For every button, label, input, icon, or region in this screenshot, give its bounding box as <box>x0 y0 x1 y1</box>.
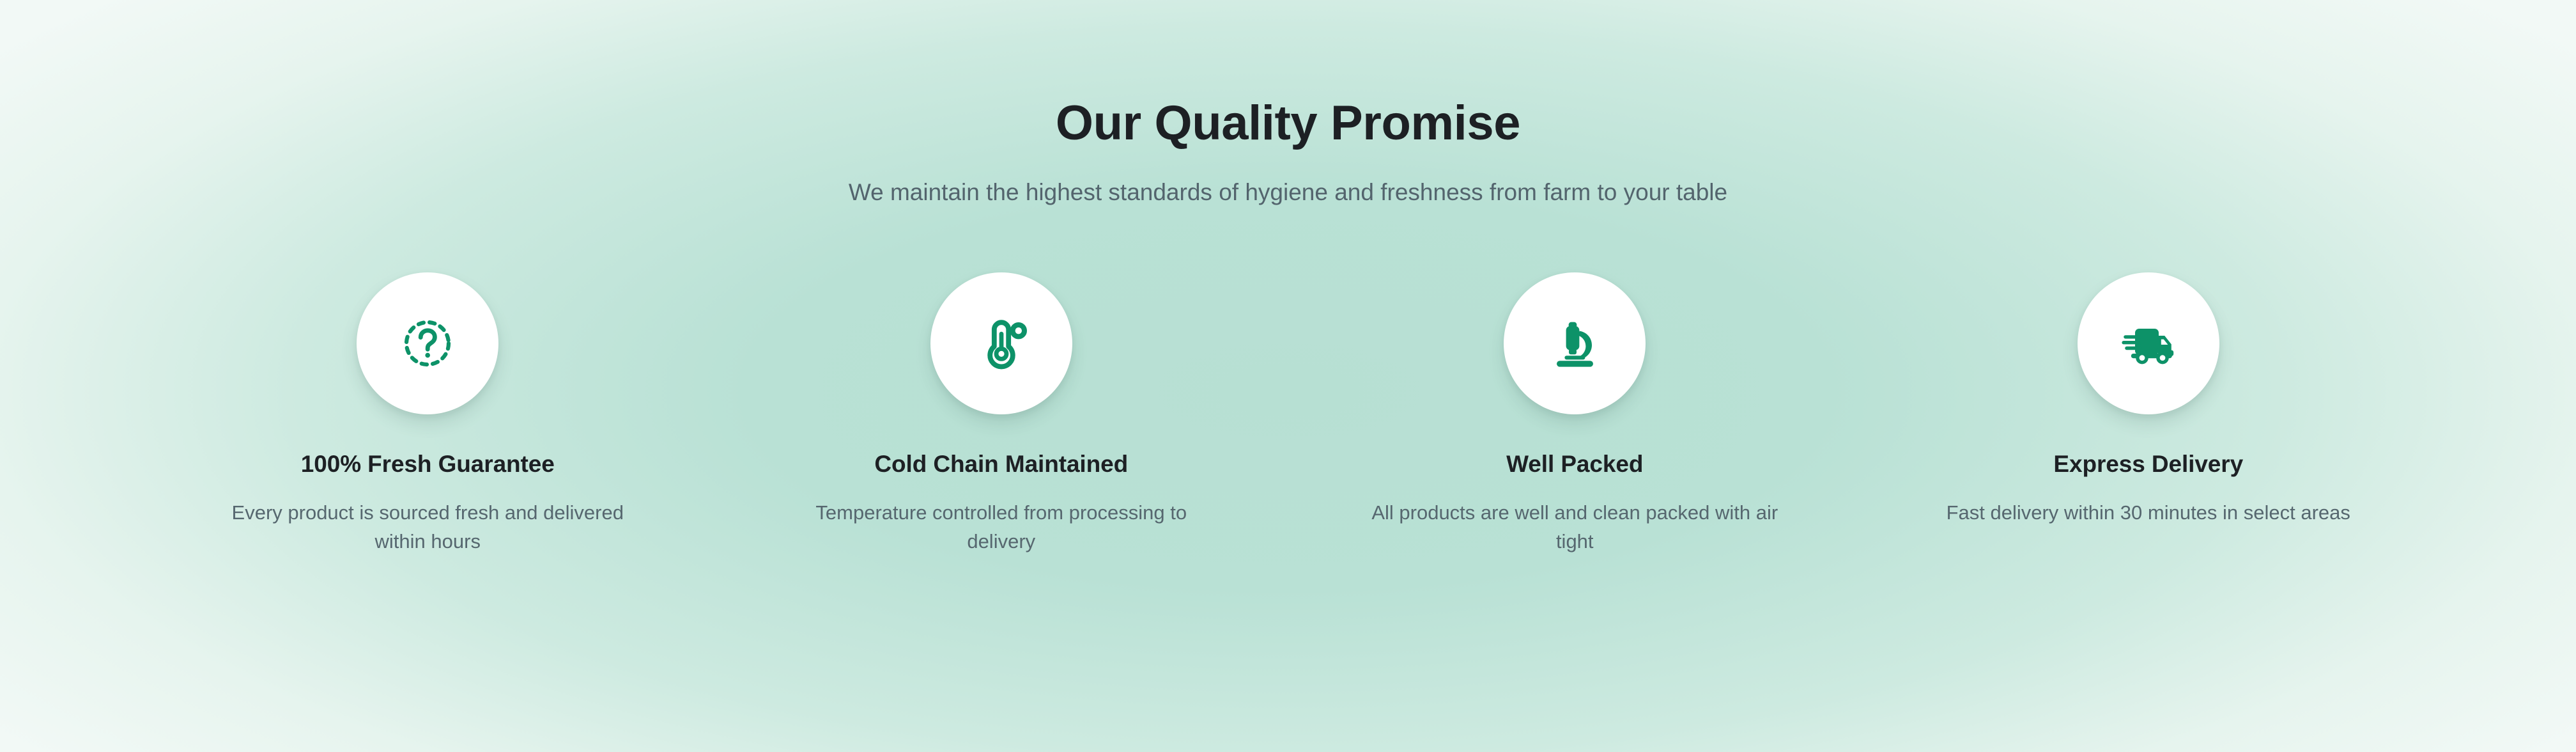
quality-promise-section: Our Quality Promise We maintain the high… <box>0 0 2576 752</box>
icon-badge <box>2078 272 2219 414</box>
feature-description: Fast delivery within 30 minutes in selec… <box>1947 499 2350 528</box>
feature-card-fresh-guarantee: 100% Fresh Guarantee Every product is so… <box>141 272 715 556</box>
feature-title: Well Packed <box>1506 450 1643 478</box>
feature-title: Express Delivery <box>2053 450 2243 478</box>
delivery-truck-icon <box>2118 313 2179 374</box>
heading-block: Our Quality Promise We maintain the high… <box>0 97 2576 208</box>
thermometer-degree-icon <box>971 313 1032 374</box>
feature-title: 100% Fresh Guarantee <box>301 450 555 478</box>
feature-card-list: 100% Fresh Guarantee Every product is so… <box>141 272 2435 556</box>
feature-description: Every product is sourced fresh and deliv… <box>207 499 648 556</box>
feature-card-cold-chain: Cold Chain Maintained Temperature contro… <box>714 272 1288 556</box>
icon-badge <box>930 272 1072 414</box>
feature-card-express-delivery: Express Delivery Fast delivery within 30… <box>1862 272 2435 528</box>
feature-description: Temperature controlled from processing t… <box>781 499 1222 556</box>
question-dashed-circle-icon <box>397 313 458 374</box>
page-subtitle: We maintain the highest standards of hyg… <box>0 176 2576 208</box>
feature-description: All products are well and clean packed w… <box>1354 499 1795 556</box>
feature-title: Cold Chain Maintained <box>874 450 1128 478</box>
microscope-icon <box>1544 313 1605 374</box>
page-title: Our Quality Promise <box>0 97 2576 150</box>
icon-badge <box>357 272 498 414</box>
feature-card-well-packed: Well Packed All products are well and cl… <box>1288 272 1862 556</box>
icon-badge <box>1504 272 1646 414</box>
